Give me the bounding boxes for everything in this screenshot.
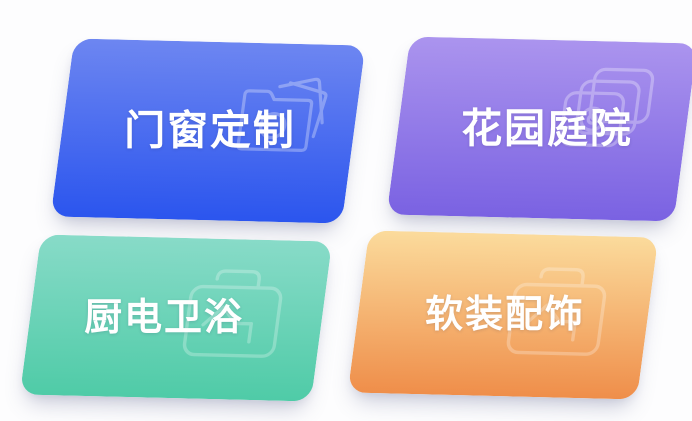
category-card-menchuang-dingzhi[interactable]: 门窗定制 <box>51 38 366 223</box>
card-background <box>387 37 692 222</box>
category-card-ruanzhuang-peishi[interactable]: 软装配饰 <box>348 230 659 399</box>
card-grid: 门窗定制 花园庭院 厨电卫浴 <box>0 0 692 421</box>
category-card-chudian-weiyu[interactable]: 厨电卫浴 <box>20 234 332 401</box>
card-background <box>51 38 366 223</box>
card-background <box>348 230 659 399</box>
card-background <box>20 234 332 401</box>
category-card-huayuan-tingyuan[interactable]: 花园庭院 <box>387 37 692 222</box>
